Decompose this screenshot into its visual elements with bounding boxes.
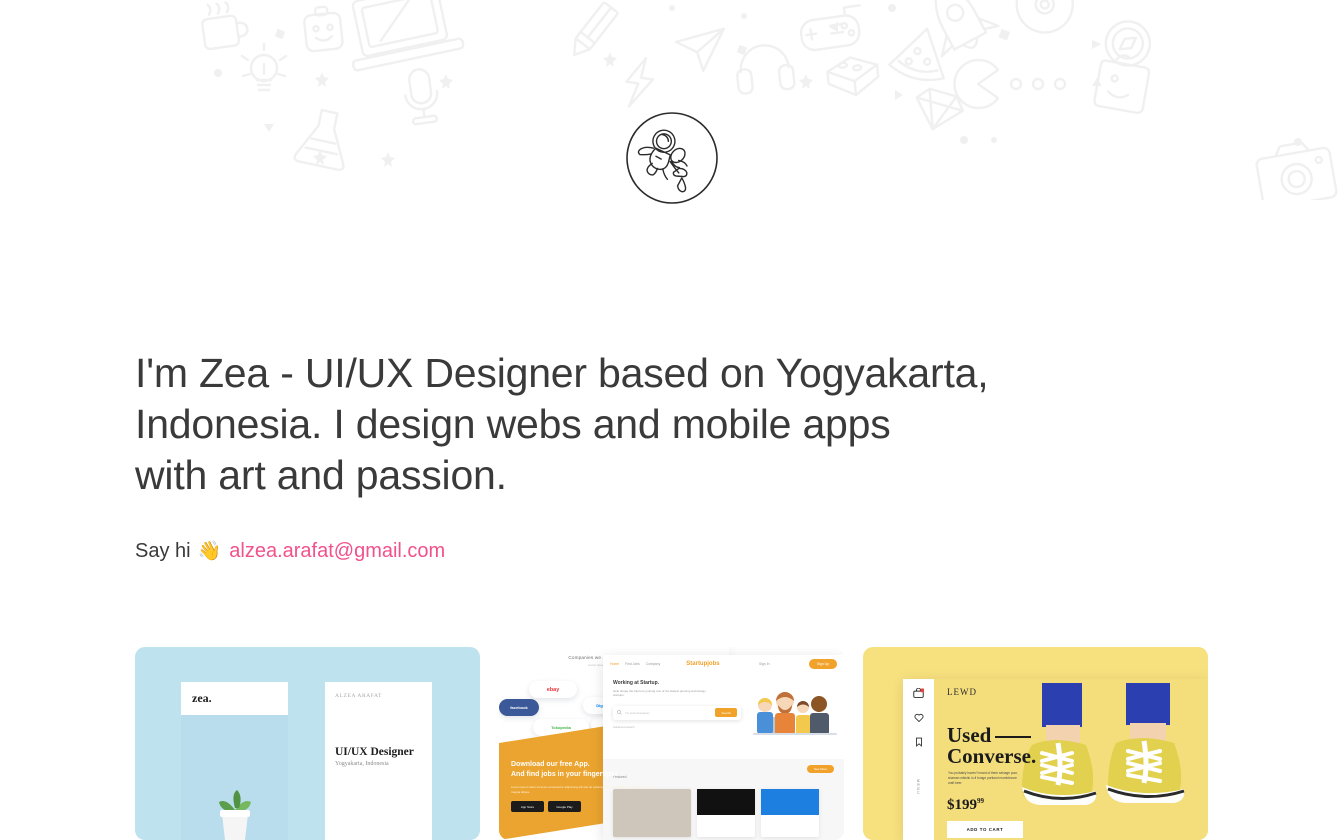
flask-icon [294,107,354,171]
search-button[interactable]: Search [715,708,737,717]
astronaut-logo[interactable] [624,110,720,206]
search-icon [617,710,622,715]
email-link[interactable]: alzea.arafat@gmail.com [229,538,445,564]
card-location: Yogyakarta, Indonesia [335,761,389,767]
camera-icon [1254,138,1337,200]
nav-item-find-jobs[interactable]: Find Jobs [625,662,640,666]
gamepad-icon [798,5,865,51]
headphones-icon [734,43,795,95]
lightbulb-icon [242,44,286,90]
bag-icon [1094,52,1152,114]
featured-tile[interactable] [697,789,755,837]
startupjobs-home-mock: Home Find Jobs Company Startupjobs Sign … [603,655,844,840]
dot-icon [214,4,1302,146]
compact-disc-icon [1012,0,1077,37]
featured-see-more-button[interactable]: See More [807,765,834,773]
promo-title: Download our free App. And find jobs in … [511,760,661,780]
rail-menu-label[interactable]: MENU [916,779,921,795]
bookmark-icon[interactable] [914,737,924,749]
app-store-buttons: App Store Google Play [511,801,661,812]
shop-brand: LEWD [947,687,977,697]
pencil-icon [567,2,618,60]
portfolio-card-converse-shop[interactable]: MENU LEWD Used Converse. You probably ha… [863,647,1208,840]
laptop-icon [340,0,464,71]
microphone-icon [402,67,441,125]
title-rule [995,736,1031,738]
lightning-bolt-icon [623,56,656,109]
brand-wordmark: zea. [192,691,212,706]
astronaut-figure [631,123,706,193]
promo-banner: Download our free App. And find jobs in … [511,760,661,812]
logo-chip-ebay: ebay [529,681,577,698]
portfolio-card-startupjobs[interactable]: Companies we are helped in hiring talent… [499,647,844,840]
contact-line: Say hi 👋 alzea.arafat@gmail.com [135,538,1145,564]
rocket-icon [911,0,1002,62]
nav-item-company[interactable]: Company [646,662,661,666]
promo-body: Lorem ipsum dolor sit amet consectetur a… [511,785,661,794]
pacman-icon [955,60,1065,108]
featured-tile[interactable] [761,789,819,837]
shop-side-rail: MENU [903,679,934,840]
coffee-mug-icon [200,0,250,50]
branding-mock-left: zea. [181,682,288,840]
price-value: $199 [947,797,977,813]
nav-signup-button[interactable]: Sign Up [809,659,837,669]
nav-signin[interactable]: Sign In [759,662,770,666]
brand-photo [181,715,288,840]
site-navbar: Home Find Jobs Company Startupjobs Sign … [603,655,844,673]
product-title: Used Converse. [947,725,1036,767]
say-hi-label: Say hi [135,538,191,564]
job-search-bar[interactable]: Try web developer Search [613,706,741,720]
card-role: UI/UX Designer [335,746,414,758]
waving-hand-icon: 👋 [198,542,222,561]
app-store-button[interactable]: App Store [511,801,544,812]
branding-mock-right: ALZEA ARAFAT UI/UX Designer Yogyakarta, … [325,682,432,840]
team-illustration [751,687,839,747]
heart-icon[interactable] [914,713,924,725]
card-kicker: ALZEA ARAFAT [335,693,422,699]
portfolio-landing-page: I'm Zea - UI/UX Designer based on Yogyak… [0,0,1344,840]
square-icon [275,29,1010,55]
hero-section: I'm Zea - UI/UX Designer based on Yogyak… [135,348,1145,564]
page-title: I'm Zea - UI/UX Designer based on Yogyak… [135,348,1145,501]
brand-bar: zea. [181,682,288,715]
star-icon [313,52,1344,200]
price-cents: 99 [977,797,984,805]
cart-icon[interactable] [913,688,924,701]
product-price: $19999 [947,797,984,814]
hero-title: Working at Startup. [613,680,834,686]
portfolio-card-personal-branding[interactable]: zea. ALZEA ARAFAT UI/UX Designer Yogyaka… [135,647,480,840]
nav-item-home[interactable]: Home [610,662,619,666]
product-description: You probably haven't heard of them selva… [948,771,1023,786]
logo-chip-facebook: facebook [499,699,539,716]
portfolio-grid: zea. ALZEA ARAFAT UI/UX Designer Yogyaka… [135,647,1210,840]
lego-head-icon [303,5,343,52]
diamond-icon [910,86,967,136]
lego-brick-icon [826,55,880,98]
product-title-line2: Converse. [947,744,1036,768]
compass-icon [1102,18,1153,69]
add-to-cart-button[interactable]: ADD TO CART [947,821,1023,838]
site-brand: Startupjobs [686,661,719,667]
google-play-button[interactable]: Google Play [548,801,581,812]
paper-plane-icon [673,24,723,73]
hero-body: Help shape the future by joining one of … [613,689,713,698]
pizza-slice-icon [888,22,955,85]
plant-illustration [200,780,270,840]
search-placeholder: Try web developer [625,711,650,715]
